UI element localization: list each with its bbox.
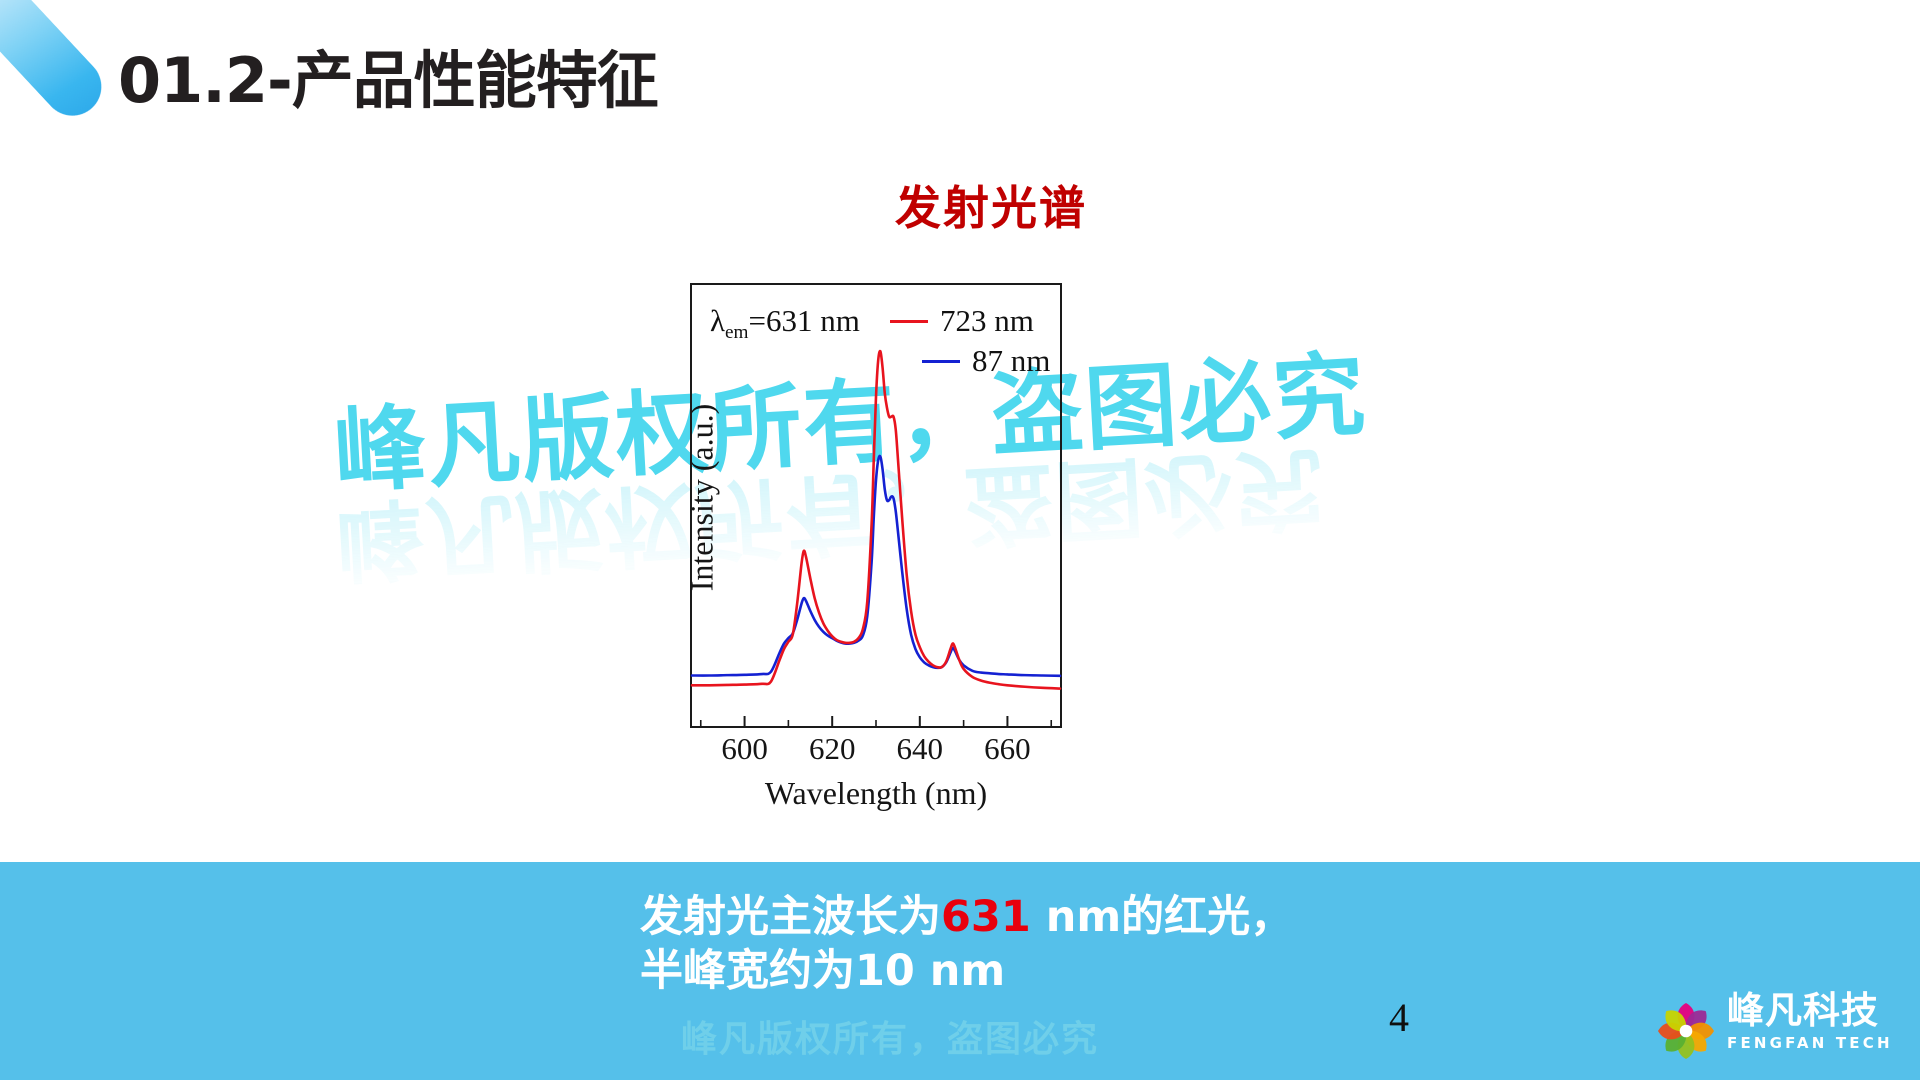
x-tick-label-600: 600 [721,731,768,767]
x-axis-label: Wavelength (nm) [690,775,1062,812]
pinwheel-flower-icon [1651,996,1721,1066]
summary-text: 发射光主波长为631 nm的红光， 半峰宽约为10 nm [640,890,1293,998]
decorative-capsule-icon [0,0,113,128]
slide-root: 01.2-产品性能特征 发射光谱 峰凡版权所有，盗图必究 峰凡版权所有，盗图必究… [0,0,1920,1080]
page-title: 01.2-产品性能特征 [118,30,658,120]
chart-legend: 723 nm 87 nm [890,301,1120,381]
legend-label-blue: 87 nm [972,343,1050,379]
y-axis-label: Intensity (a.u.) [684,218,721,778]
spectrum-line-87-nm [692,456,1060,676]
logo-name-cn: 峰凡科技 [1727,992,1893,1031]
logo-name-en: FENGFAN TECH [1727,1034,1893,1052]
summary-line1-accent: 631 [941,892,1031,942]
chart-heading: 发射光谱 [0,172,1920,238]
x-tick-label-660: 660 [984,731,1031,767]
summary-line-1: 发射光主波长为631 nm的红光， [640,890,1293,944]
x-tick-label-620: 620 [809,731,856,767]
summary-line1-after: nm的红光， [1031,892,1293,942]
company-logo: 峰凡科技 FENGFAN TECH [1651,992,1901,1070]
page-number: 4 [1389,994,1409,1041]
spectrum-line-723-nm [692,351,1060,688]
lambda-value: =631 nm [749,303,860,338]
legend-swatch-blue [922,360,960,363]
bottom-summary-band: 发射光主波长为631 nm的红光， 半峰宽约为10 nm [0,862,1920,1080]
legend-entry-red: 723 nm [890,301,1120,341]
x-axis-tick-labels: 600620640660 [690,731,1062,771]
emission-spectrum-figure: λem=631 nm 723 nm 87 nm 600620640660 Wav… [690,283,1062,728]
logo-text: 峰凡科技 FENGFAN TECH [1727,992,1893,1052]
lambda-em-annotation: λem=631 nm [710,303,860,344]
legend-label-red: 723 nm [940,303,1034,339]
lambda-subscript: em [725,322,748,343]
chart-heading-text: 发射光谱 [895,181,1087,235]
legend-swatch-red [890,320,928,323]
legend-entry-blue: 87 nm [922,341,1120,381]
summary-line-2: 半峰宽约为10 nm [640,944,1293,998]
summary-line1-before: 发射光主波长为 [640,892,941,942]
x-tick-label-640: 640 [897,731,944,767]
